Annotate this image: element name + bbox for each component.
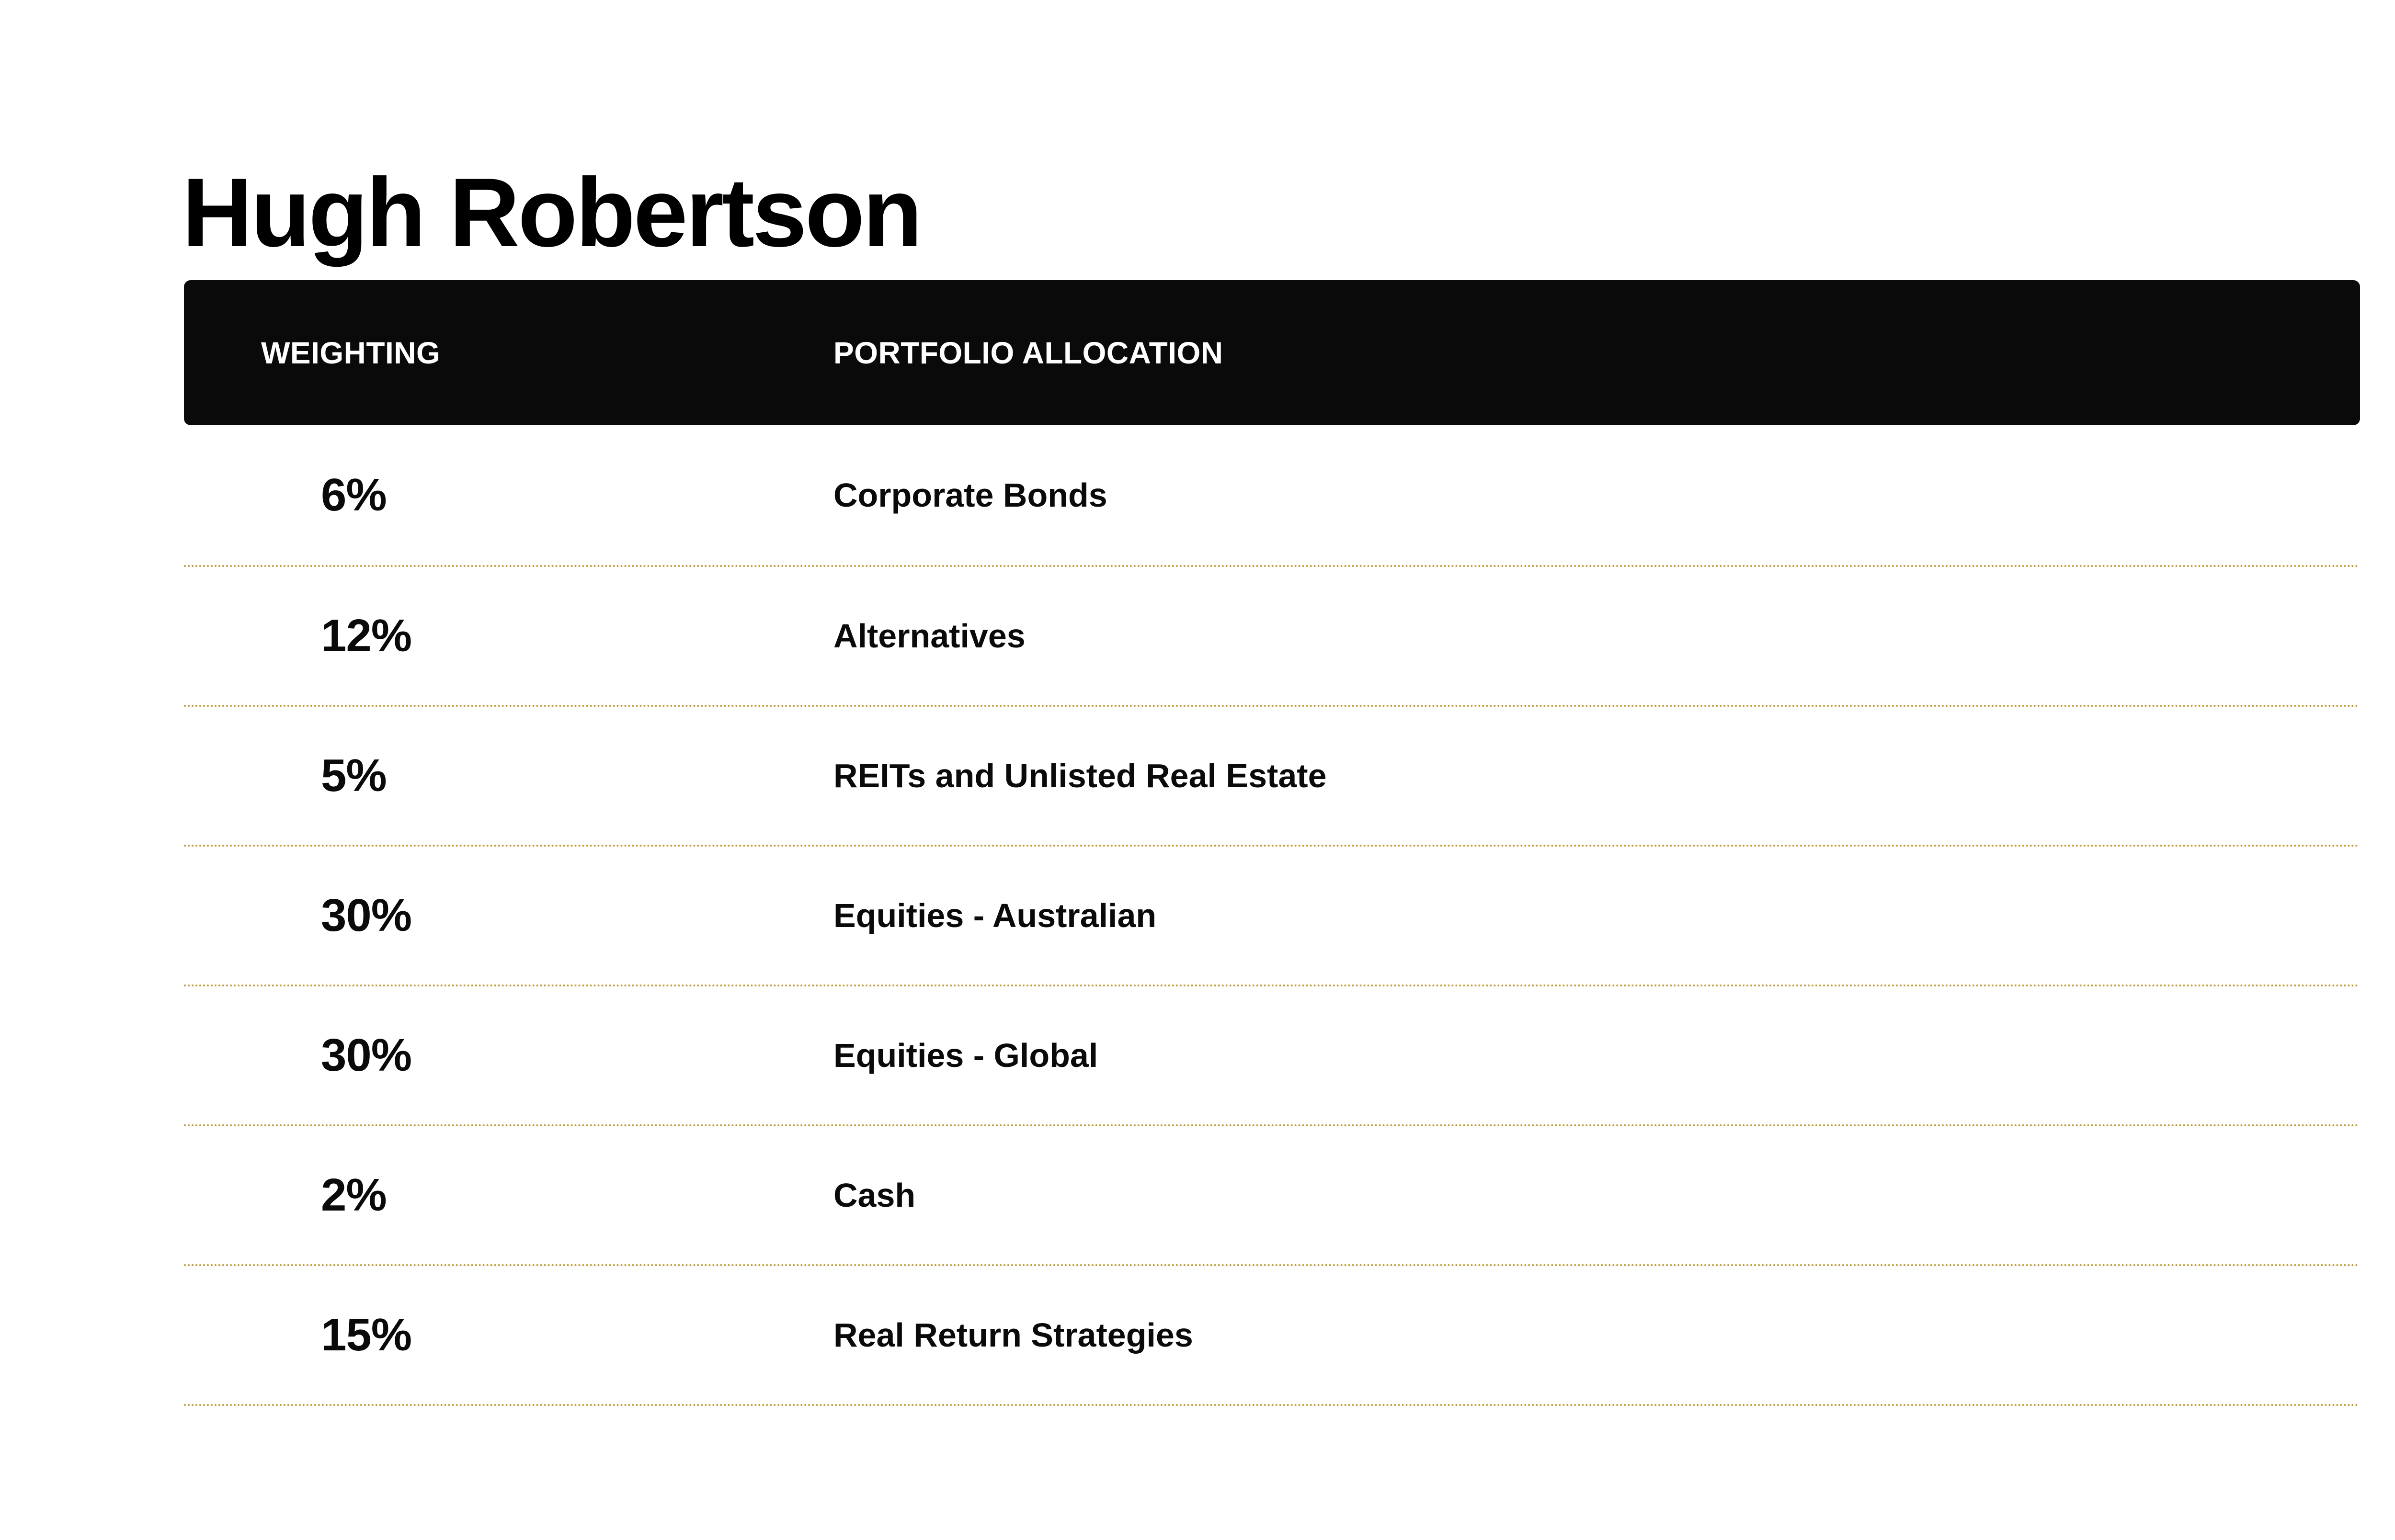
table-row: 15% Real Return Strategies [184,1264,2360,1404]
cell-allocation: Real Return Strategies [833,1318,2360,1352]
cell-allocation: Cash [833,1178,2360,1212]
page-title: Hugh Robertson [182,164,921,261]
cell-weighting: 5% [321,753,833,799]
cell-allocation: Corporate Bonds [833,478,2360,512]
cell-allocation: REITs and Unlisted Real Estate [833,759,2360,793]
table-row: 6% Corporate Bonds [184,425,2360,565]
table-row: 2% Cash [184,1124,2360,1264]
column-header-weighting: WEIGHTING [261,338,833,368]
table-row: 5% REITs and Unlisted Real Estate [184,705,2360,845]
cell-allocation: Equities - Global [833,1039,2360,1072]
portfolio-allocation-table: WEIGHTING PORTFOLIO ALLOCATION 6% Corpor… [184,280,2360,1406]
table-row: 12% Alternatives [184,565,2360,705]
table-row: 30% Equities - Global [184,985,2360,1124]
cell-allocation: Alternatives [833,619,2360,653]
cell-weighting: 6% [321,472,833,518]
cell-weighting: 2% [321,1172,833,1218]
table-header-row: WEIGHTING PORTFOLIO ALLOCATION [184,280,2360,425]
table-row: 30% Equities - Australian [184,845,2360,985]
cell-weighting: 30% [321,1032,833,1078]
cell-weighting: 12% [321,613,833,659]
page-root: Hugh Robertson WEIGHTING PORTFOLIO ALLOC… [0,0,2395,1540]
cell-allocation: Equities - Australian [833,899,2360,932]
cell-weighting: 15% [321,1312,833,1358]
cell-weighting: 30% [321,893,833,939]
column-header-portfolio-allocation: PORTFOLIO ALLOCATION [833,338,2360,368]
table-body: 6% Corporate Bonds 12% Alternatives 5% R… [184,425,2360,1406]
